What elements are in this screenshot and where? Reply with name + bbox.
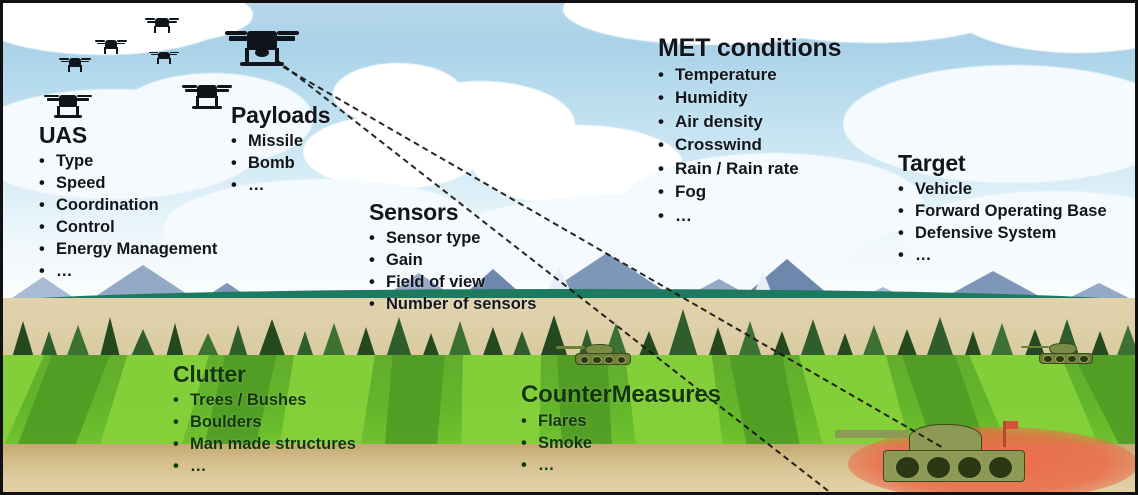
drone-leg: [116, 47, 118, 54]
bullet-icon: •: [898, 178, 915, 200]
list-item: •Type: [39, 150, 217, 172]
list-item: •Temperature: [658, 63, 841, 86]
list-item-label: Sensor type: [386, 227, 480, 249]
list-item-label: Vehicle: [915, 178, 972, 200]
block-countermeasures-heading: CounterMeasures: [521, 382, 721, 409]
drone-rotor-icon: [170, 52, 179, 53]
drone-rotor-icon: [182, 85, 197, 87]
list-item-label: Rain / Rain rate: [675, 157, 799, 180]
list-item-label: Defensive System: [915, 222, 1056, 244]
list-item: •Control: [39, 216, 217, 238]
list-item-label: …: [538, 454, 555, 476]
list-item-label: Air density: [675, 110, 763, 133]
bullet-icon: •: [658, 86, 675, 109]
list-item: •Gain: [369, 249, 536, 271]
bullet-icon: •: [369, 227, 386, 249]
list-item: •…: [39, 260, 217, 282]
block-met-heading: MET conditions: [658, 34, 841, 62]
list-item: •Trees / Bushes: [173, 389, 356, 411]
tank-wheels: [1042, 355, 1090, 363]
bullet-icon: •: [39, 172, 56, 194]
tank-barrel: [556, 346, 585, 349]
drone-icon: [61, 53, 89, 73]
list-item: •Rain / Rain rate: [658, 157, 841, 180]
list-item-label: …: [56, 260, 73, 282]
tank-barrel: [1021, 346, 1049, 349]
bullet-icon: •: [658, 133, 675, 156]
drone-icon: [47, 87, 89, 117]
list-item: •Fog: [658, 180, 841, 203]
bullet-icon: •: [173, 455, 190, 477]
list-item: •Defensive System: [898, 222, 1107, 244]
drone-body: [59, 95, 77, 108]
list-item-label: Smoke: [538, 432, 592, 454]
bullet-icon: •: [39, 150, 56, 172]
list-item: •Coordination: [39, 194, 217, 216]
bullet-icon: •: [658, 110, 675, 133]
list-item-label: Coordination: [56, 194, 159, 216]
drone-rotor-icon: [44, 95, 58, 97]
bullet-icon: •: [898, 222, 915, 244]
block-target: Target •Vehicle •Forward Operating Base …: [898, 151, 1107, 266]
tank-midfield-right: [1039, 337, 1093, 364]
drone-leg: [245, 48, 250, 64]
block-clutter-list: •Trees / Bushes •Boulders •Man made stru…: [173, 389, 356, 477]
block-uas-list: •Type •Speed •Coordination •Control •Ene…: [39, 150, 217, 283]
block-sensors: Sensors •Sensor type •Gain •Field of vie…: [369, 200, 536, 315]
list-item-label: Gain: [386, 249, 423, 271]
tank-midfield-left: [575, 337, 631, 365]
list-item: •…: [173, 455, 356, 477]
list-item-label: Speed: [56, 172, 106, 194]
bullet-icon: •: [39, 260, 56, 282]
block-payloads: Payloads •Missile •Bomb •…: [231, 103, 330, 196]
list-item: •Man made structures: [173, 433, 356, 455]
drone-leg: [80, 65, 82, 72]
bullet-icon: •: [173, 411, 190, 433]
list-item: •Boulders: [173, 411, 356, 433]
list-item-label: Forward Operating Base: [915, 200, 1107, 222]
list-item: •Sensor type: [369, 227, 536, 249]
bullet-icon: •: [369, 293, 386, 315]
block-countermeasures: CounterMeasures •Flares •Smoke •…: [521, 382, 721, 476]
drone-leg: [104, 47, 106, 54]
list-item-label: Bomb: [248, 152, 295, 174]
list-item: •Number of sensors: [369, 293, 536, 315]
treeline: [3, 299, 1135, 361]
scenario-diagram: UAS •Type •Speed •Coordination •Control …: [0, 0, 1138, 495]
bullet-icon: •: [369, 249, 386, 271]
list-item: •…: [898, 244, 1107, 266]
drone-body: [105, 40, 117, 48]
bullet-icon: •: [521, 410, 538, 432]
bullet-icon: •: [658, 63, 675, 86]
list-item: •Field of view: [369, 271, 536, 293]
block-uas-heading: UAS: [39, 123, 217, 149]
block-clutter-heading: Clutter: [173, 362, 356, 388]
list-item: •Bomb: [231, 152, 330, 174]
list-item: •Smoke: [521, 432, 721, 454]
tank-target: [883, 406, 1025, 482]
bullet-icon: •: [658, 180, 675, 203]
block-clutter: Clutter •Trees / Bushes •Boulders •Man m…: [173, 362, 356, 477]
tank-barrel: [835, 430, 909, 438]
list-item-label: Missile: [248, 130, 303, 152]
drone-icon: [185, 77, 229, 108]
bullet-icon: •: [369, 271, 386, 293]
list-item-label: Temperature: [675, 63, 777, 86]
bullet-icon: •: [521, 432, 538, 454]
drone-body: [69, 58, 81, 66]
drone-body: [197, 85, 216, 98]
list-item-label: Control: [56, 216, 115, 238]
list-item: •Crosswind: [658, 133, 841, 156]
drone-leg: [68, 65, 70, 72]
drone-skid: [54, 115, 83, 117]
drone-camera-icon: [255, 48, 268, 57]
drone-rotor-icon: [169, 18, 179, 20]
list-item: •Forward Operating Base: [898, 200, 1107, 222]
list-item-label: …: [248, 174, 265, 196]
bullet-icon: •: [658, 204, 675, 227]
list-item: •…: [658, 204, 841, 227]
bullet-icon: •: [898, 244, 915, 266]
block-target-heading: Target: [898, 151, 1107, 177]
block-payloads-heading: Payloads: [231, 103, 330, 129]
list-item: •Humidity: [658, 86, 841, 109]
drone-rotor-icon: [217, 85, 232, 87]
bullet-icon: •: [231, 174, 248, 196]
list-item: •Flares: [521, 410, 721, 432]
list-item: •Speed: [39, 172, 217, 194]
drone-rotor-icon: [277, 31, 299, 35]
list-item-label: Type: [56, 150, 93, 172]
bullet-icon: •: [39, 238, 56, 260]
bullet-icon: •: [173, 433, 190, 455]
block-met-conditions: MET conditions •Temperature •Humidity •A…: [658, 34, 841, 227]
list-item: •…: [231, 174, 330, 196]
drone-body: [155, 18, 168, 27]
list-item-label: Flares: [538, 410, 587, 432]
bullet-icon: •: [231, 130, 248, 152]
list-item-label: Crosswind: [675, 133, 762, 156]
bullet-icon: •: [39, 194, 56, 216]
list-item-label: Man made structures: [190, 433, 356, 455]
list-item-label: …: [190, 455, 207, 477]
drone-rotor-icon: [117, 40, 127, 42]
block-met-list: •Temperature •Humidity •Air density •Cro…: [658, 63, 841, 227]
drone-icon: [147, 13, 177, 34]
list-item: •…: [521, 454, 721, 476]
list-item-label: Humidity: [675, 86, 748, 109]
bullet-icon: •: [39, 216, 56, 238]
bullet-icon: •: [898, 200, 915, 222]
block-countermeasures-list: •Flares •Smoke •…: [521, 410, 721, 476]
drone-rotor-icon: [59, 58, 69, 60]
tank-wheels: [578, 356, 627, 364]
drone-leg: [169, 58, 171, 64]
drone-icon: [151, 47, 177, 65]
drone-rotor-icon: [225, 31, 247, 35]
block-payloads-list: •Missile •Bomb •…: [231, 130, 330, 196]
list-item-label: Trees / Bushes: [190, 389, 306, 411]
drone-leg: [157, 58, 159, 64]
block-uas: UAS •Type •Speed •Coordination •Control …: [39, 123, 217, 282]
list-item: •Missile: [231, 130, 330, 152]
list-item-label: Fog: [675, 180, 706, 203]
drone-icon: [97, 35, 125, 55]
bullet-icon: •: [521, 454, 538, 476]
list-item: •Energy Management: [39, 238, 217, 260]
tank-wheels: [892, 456, 1017, 479]
drone-icon: [229, 19, 295, 65]
drone-rotor-icon: [77, 95, 91, 97]
block-sensors-list: •Sensor type •Gain •Field of view •Numbe…: [369, 227, 536, 315]
drone-leg: [168, 26, 170, 33]
bullet-icon: •: [173, 389, 190, 411]
block-target-list: •Vehicle •Forward Operating Base •Defens…: [898, 178, 1107, 266]
list-item-label: Energy Management: [56, 238, 217, 260]
drone-rotor-icon: [145, 18, 155, 20]
list-item-label: Field of view: [386, 271, 485, 293]
drone-skid: [192, 106, 222, 108]
block-sensors-heading: Sensors: [369, 200, 536, 226]
drone-rotor-icon: [149, 52, 158, 53]
list-item-label: Number of sensors: [386, 293, 536, 315]
drone-rotor-icon: [81, 58, 91, 60]
list-item-label: Boulders: [190, 411, 262, 433]
bullet-icon: •: [231, 152, 248, 174]
list-item-label: …: [675, 204, 692, 227]
list-item: •Air density: [658, 110, 841, 133]
list-item-label: …: [915, 244, 932, 266]
bullet-icon: •: [658, 157, 675, 180]
drone-leg: [154, 26, 156, 33]
drone-rotor-icon: [95, 40, 105, 42]
list-item: •Vehicle: [898, 178, 1107, 200]
